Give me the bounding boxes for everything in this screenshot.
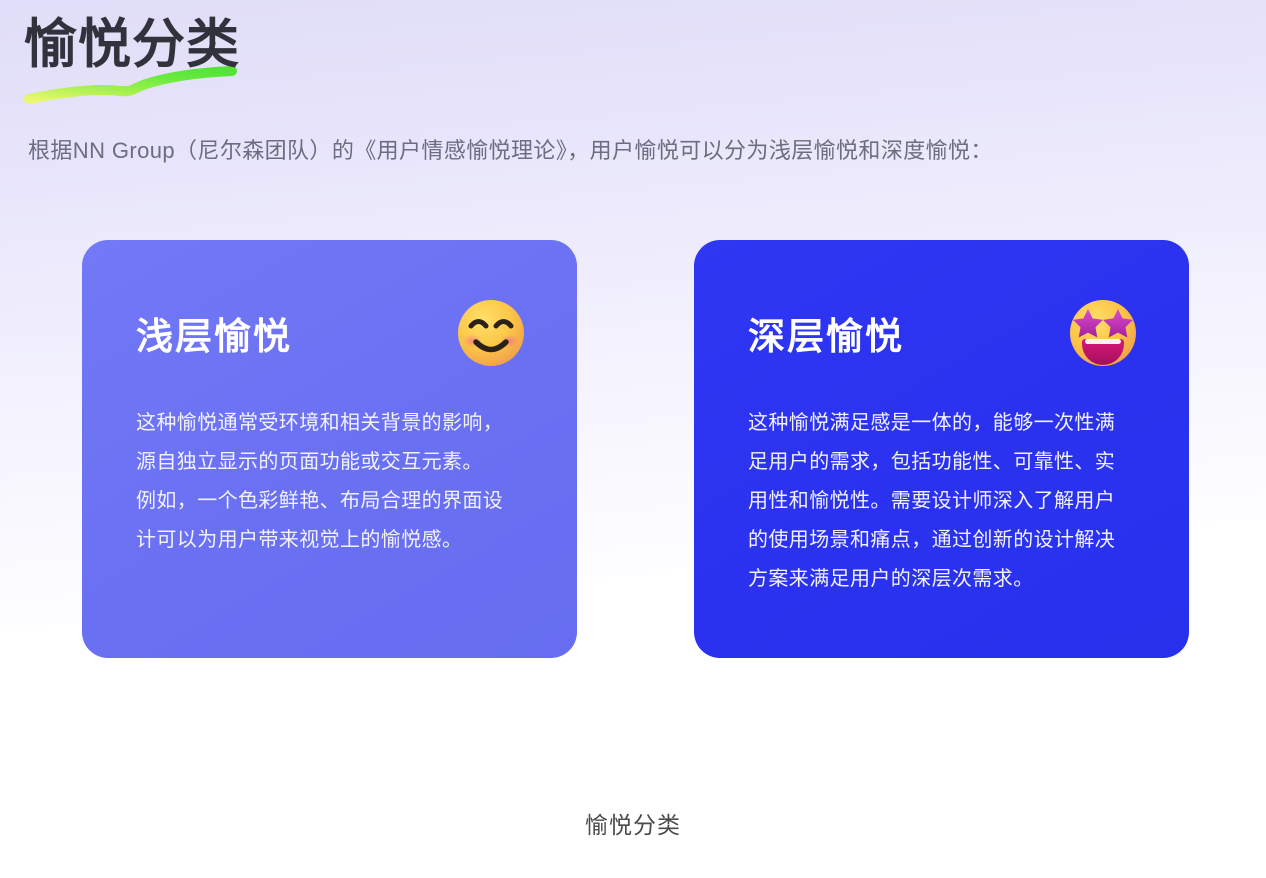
card-header: 浅层愉悦: [136, 296, 535, 370]
smiling-face-with-smiling-eyes-emoji: [455, 297, 527, 369]
card-title-shallow: 浅层愉悦: [136, 306, 292, 360]
card-body-shallow: 这种愉悦通常受环境和相关背景的影响， 源自独立显示的页面功能或交互元素。 例如，…: [136, 404, 535, 560]
card-title-deep: 深层愉悦: [748, 306, 904, 360]
card-shallow-delight[interactable]: 浅层愉悦: [82, 240, 577, 658]
page-subtitle: 根据NN Group（尼尔森团队）的《用户情感愉悦理论》，用户愉悦可以分为浅层愉…: [28, 134, 993, 168]
footer-caption: 愉悦分类: [0, 806, 1266, 840]
card-header: 深层愉悦: [748, 296, 1147, 370]
page-title-block: 愉悦分类: [24, 14, 444, 106]
page-title: 愉悦分类: [24, 14, 444, 76]
card-deep-delight[interactable]: 深层愉悦: [694, 240, 1189, 658]
delight-category-cards: 浅层愉悦: [82, 240, 1189, 658]
card-body-deep: 这种愉悦满足感是一体的，能够一次性满 足用户的需求，包括功能性、可靠性、实 用性…: [748, 404, 1147, 599]
star-struck-emoji: [1067, 297, 1139, 369]
